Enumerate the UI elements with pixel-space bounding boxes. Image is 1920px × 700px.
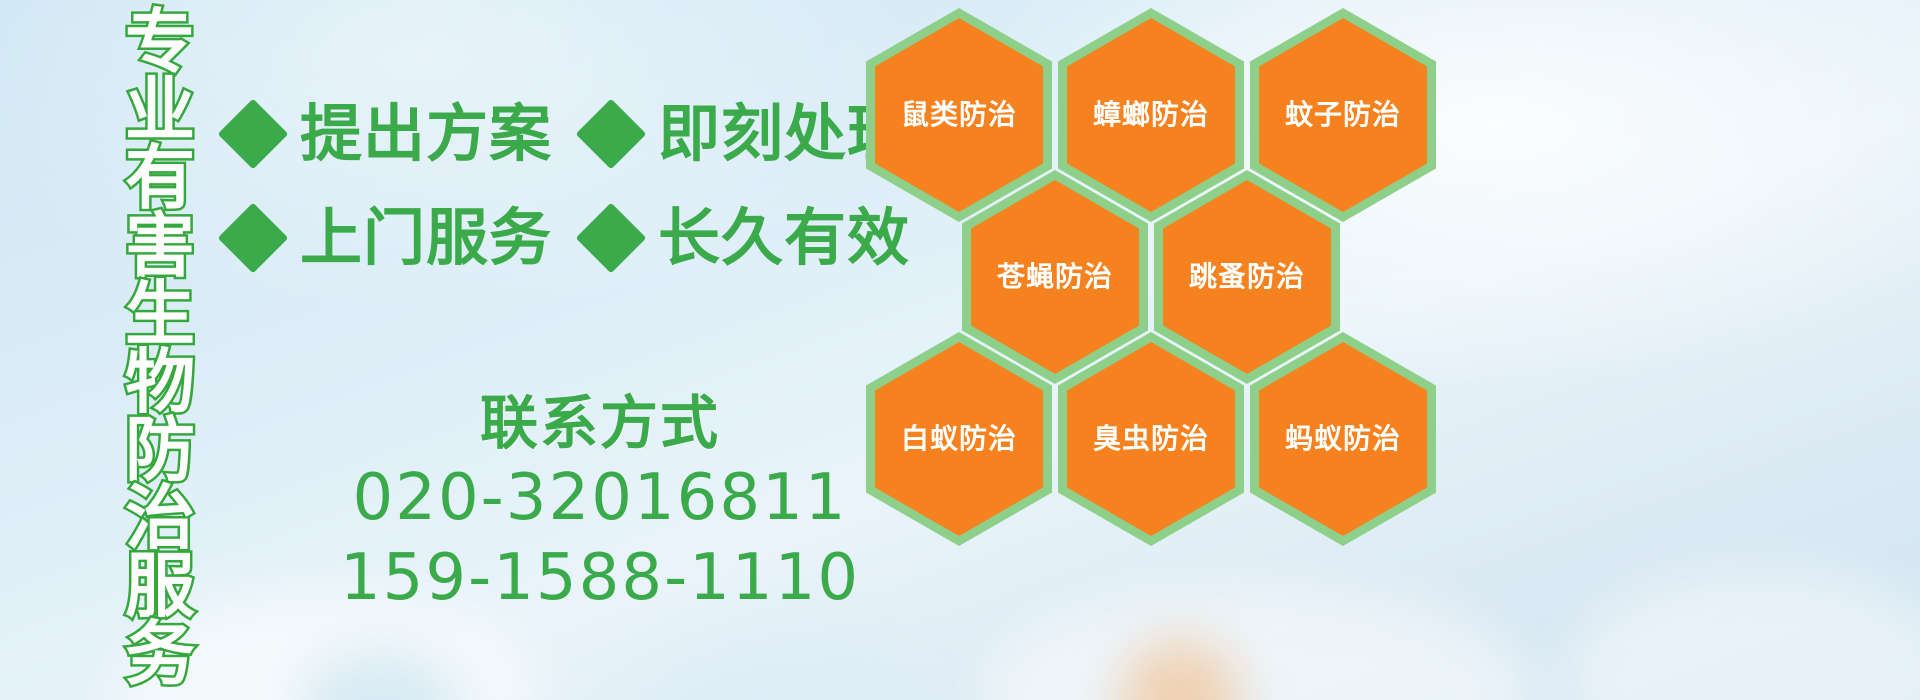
service-hex-label: 苍蝇防治 (997, 262, 1113, 292)
vertical-slogan-char: 防 (125, 416, 195, 484)
contact-phone-landline[interactable]: 020-32016811 (300, 458, 900, 538)
feature-row: 提出方案 即刻处理 (228, 82, 878, 186)
service-hex-label: 蚂蚁防治 (1285, 424, 1401, 454)
hex-inner: 苍蝇防治 (971, 180, 1139, 374)
vertical-slogan-char: 服 (125, 552, 195, 620)
hex-inner: 蚊子防治 (1259, 18, 1427, 212)
hex-inner: 蚂蚁防治 (1259, 342, 1427, 536)
contact-phone-mobile[interactable]: 159-1588-1110 (300, 538, 900, 618)
service-honeycomb-grid: 鼠类防治 蟑螂防治 蚊子防治 苍蝇防治 跳蚤防治 白蚁防治 (860, 0, 1460, 700)
feature-item-propose-plan: 提出方案 (228, 103, 552, 165)
vertical-slogan-char: 有 (125, 144, 195, 212)
background-blur-shape (300, 650, 460, 700)
contact-block: 联系方式 020-32016811 159-1588-1110 (300, 388, 900, 618)
hex-inner: 蟑螂防治 (1067, 18, 1235, 212)
service-hex-label: 蚊子防治 (1285, 100, 1401, 130)
pest-control-banner: 专 业 有 害 生 物 防 治 服 务 提出方案 即刻处理 上门服务 (0, 0, 1920, 700)
background-blur-shape (1560, 570, 1920, 700)
vertical-slogan-char: 生 (125, 280, 195, 348)
vertical-slogan-char: 业 (125, 76, 195, 144)
service-hex-label: 蟑螂防治 (1093, 100, 1209, 130)
feature-item-door-to-door: 上门服务 (228, 207, 552, 269)
hex-inner: 白蚁防治 (875, 342, 1043, 536)
hex-inner: 鼠类防治 (875, 18, 1043, 212)
vertical-slogan-char: 务 (125, 620, 195, 688)
hex-inner: 跳蚤防治 (1163, 180, 1331, 374)
vertical-slogan: 专 业 有 害 生 物 防 治 服 务 (108, 8, 212, 688)
diamond-bullet-icon (576, 203, 647, 274)
vertical-slogan-char: 害 (125, 212, 195, 280)
hex-inner: 臭虫防治 (1067, 342, 1235, 536)
diamond-bullet-icon (576, 99, 647, 170)
feature-label: 提出方案 (300, 103, 552, 165)
diamond-bullet-icon (218, 99, 289, 170)
feature-label: 上门服务 (300, 207, 552, 269)
vertical-slogan-char: 物 (125, 348, 195, 416)
service-hex-label: 白蚁防治 (901, 424, 1017, 454)
vertical-slogan-char: 治 (125, 484, 195, 552)
vertical-slogan-char: 专 (125, 8, 195, 76)
feature-list: 提出方案 即刻处理 上门服务 长久有效 (228, 82, 878, 290)
service-hex-label: 臭虫防治 (1093, 424, 1209, 454)
diamond-bullet-icon (218, 203, 289, 274)
service-hex-label: 鼠类防治 (901, 100, 1017, 130)
feature-row: 上门服务 长久有效 (228, 186, 878, 290)
service-hex-label: 跳蚤防治 (1189, 262, 1305, 292)
contact-title: 联系方式 (300, 388, 900, 458)
